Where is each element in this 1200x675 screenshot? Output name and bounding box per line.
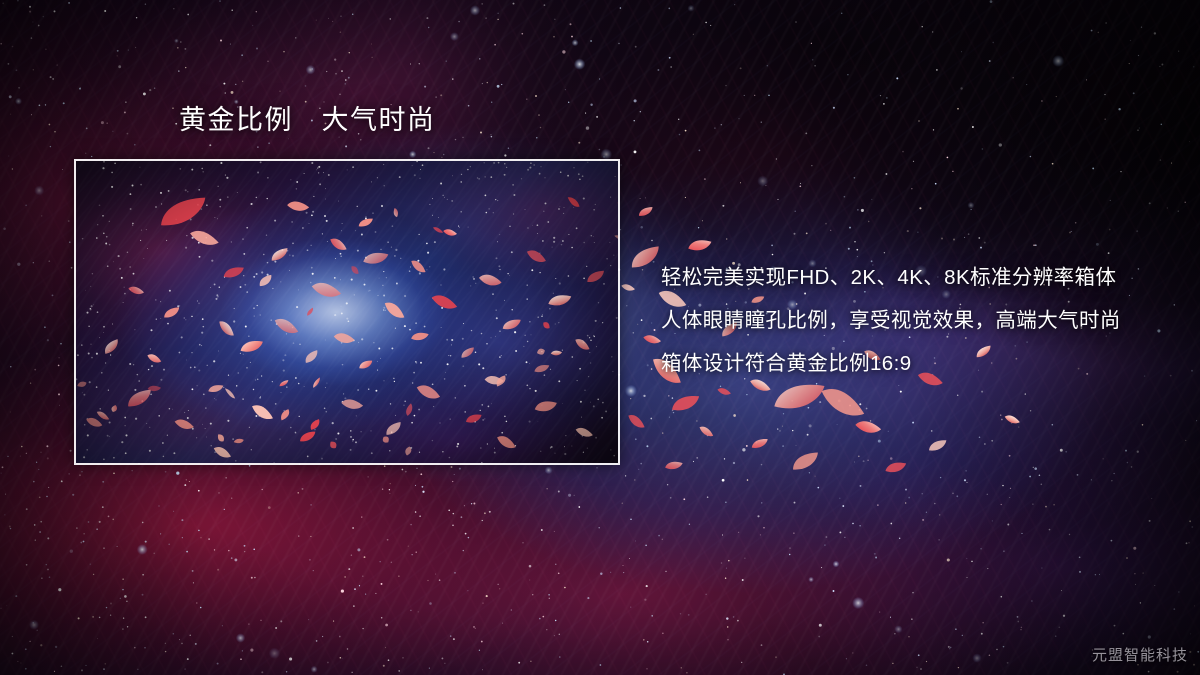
description-line-1: 轻松完美实现FHD、2K、4K、8K标准分辨率箱体	[661, 256, 1181, 299]
feature-description: 轻松完美实现FHD、2K、4K、8K标准分辨率箱体 人体眼睛瞳孔比例，享受视觉效…	[661, 256, 1181, 385]
hero-image	[76, 161, 618, 463]
description-line-3: 箱体设计符合黄金比例16:9	[661, 342, 1181, 385]
watermark: 元盟智能科技	[1092, 644, 1188, 665]
presentation-slide: 黄金比例 大气时尚 轻松完美实现FHD、2K、4K、8K标准分辨率箱体 人体眼睛…	[0, 0, 1200, 675]
hero-image-vignette	[76, 161, 618, 463]
hero-image-frame	[74, 159, 620, 465]
description-line-2: 人体眼睛瞳孔比例，享受视觉效果，高端大气时尚	[661, 299, 1181, 342]
page-title: 黄金比例 大气时尚	[179, 103, 436, 138]
